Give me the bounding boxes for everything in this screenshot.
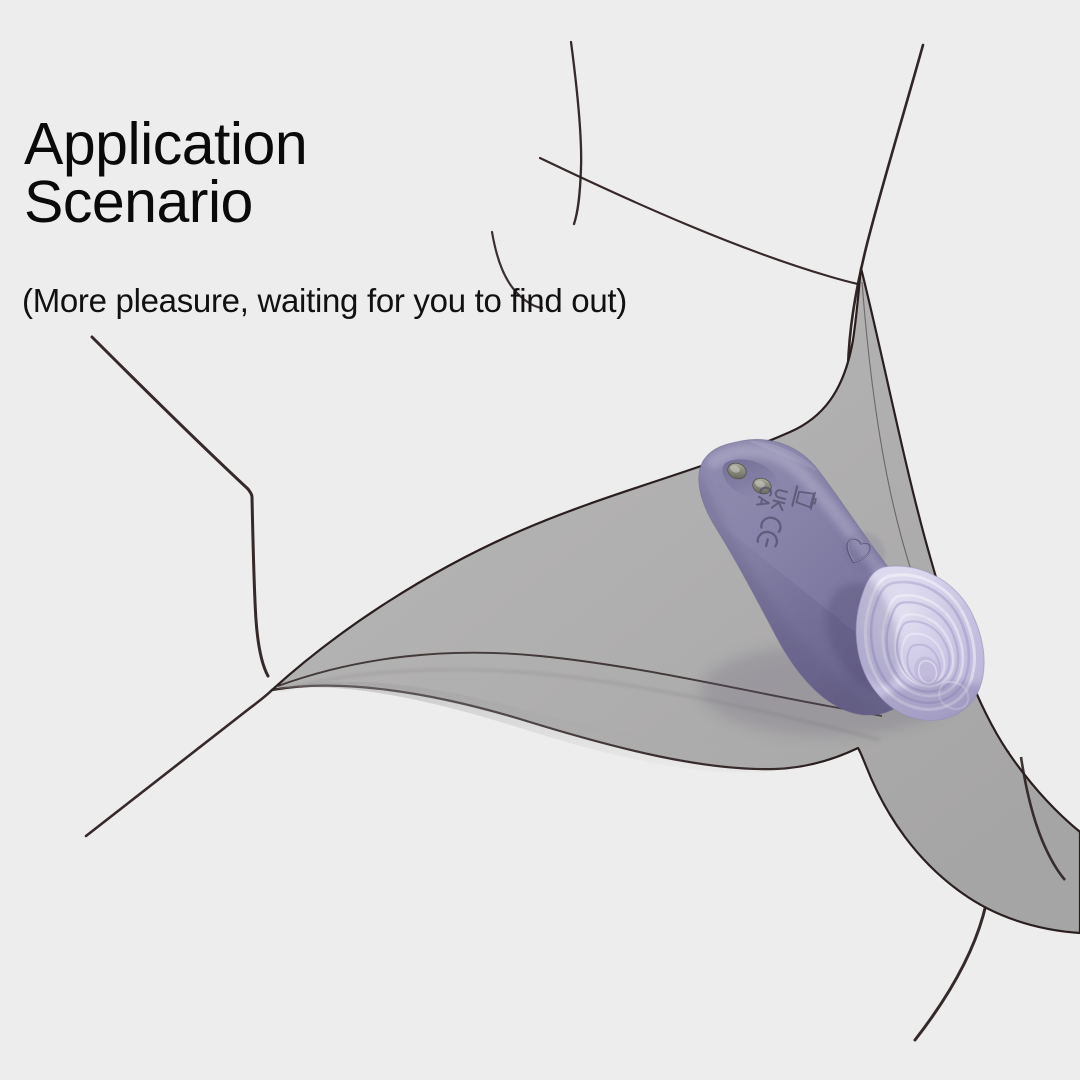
page-title: Application Scenario bbox=[24, 116, 664, 232]
application-scenario-banner: Application Scenario (More pleasure, wai… bbox=[0, 0, 1080, 1080]
page-subtitle: (More pleasure, waiting for you to find … bbox=[22, 284, 842, 319]
